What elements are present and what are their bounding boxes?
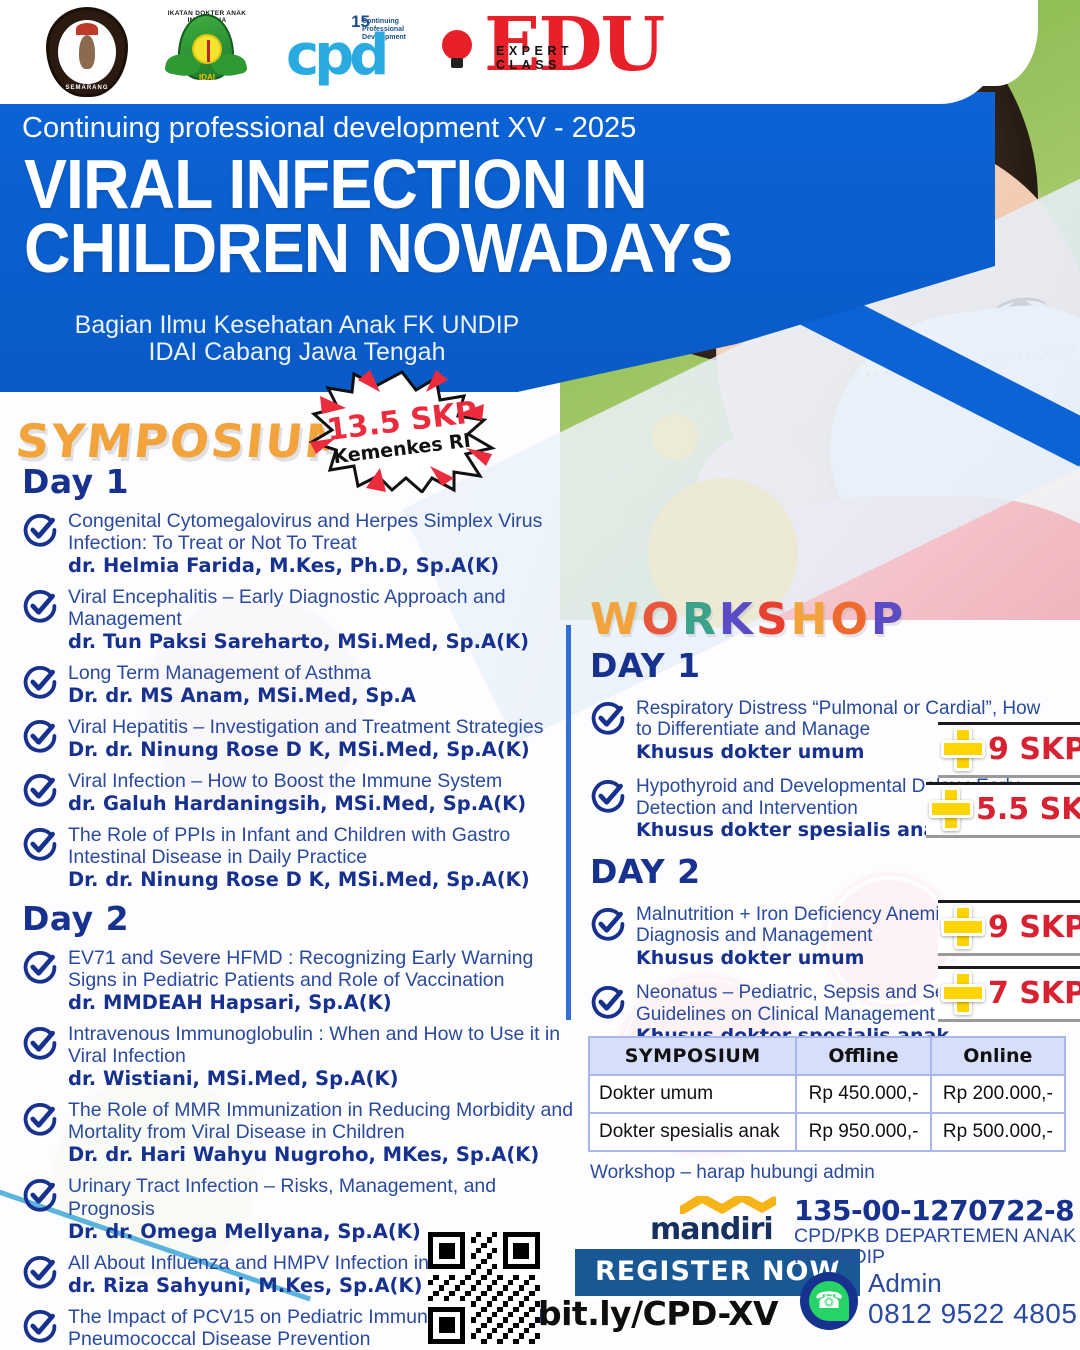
session-speaker: dr. Wistiani, MSi.Med, Sp.A(K) bbox=[68, 1067, 578, 1090]
workshop-skp-badge: 5.5 SKP bbox=[926, 782, 1080, 838]
qr-code[interactable] bbox=[428, 1232, 540, 1344]
session-title: Congenital Cytomegalovirus and Herpes Si… bbox=[68, 510, 578, 554]
edu-logo-subtext: EXPERT CLASS bbox=[496, 44, 640, 72]
table-header-row: SYMPOSIUM Offline Online bbox=[589, 1037, 1065, 1075]
workshop-day1-label: DAY 1 bbox=[590, 646, 1060, 685]
list-item: Long Term Management of AsthmaDr. dr. MS… bbox=[22, 662, 578, 707]
list-item: Congenital Cytomegalovirus and Herpes Si… bbox=[22, 510, 578, 577]
session-speaker: Dr. dr. Ninung Rose D K, MSi.Med, Sp.A(K… bbox=[68, 738, 578, 761]
check-circle-icon bbox=[22, 826, 58, 862]
check-circle-icon bbox=[22, 718, 58, 754]
check-circle-icon bbox=[22, 1308, 58, 1344]
price-offline: Rp 950.000,- bbox=[796, 1113, 930, 1151]
starburst-rays-icon bbox=[306, 368, 498, 493]
check-circle-icon bbox=[590, 906, 626, 942]
session-title: Urinary Tract Infection – Risks, Managem… bbox=[68, 1175, 578, 1219]
check-circle-icon bbox=[22, 588, 58, 624]
page-title-line2: CHILDREN NOWADAYS bbox=[24, 216, 732, 280]
session-speaker: dr. MMDEAH Hapsari, Sp.A(K) bbox=[68, 991, 578, 1014]
workshop-skp-badge: 7 SKP bbox=[938, 966, 1080, 1022]
session-title: Viral Infection – How to Boost the Immun… bbox=[68, 770, 578, 792]
pricing-table: SYMPOSIUM Offline Online Dokter umum Rp … bbox=[588, 1036, 1066, 1152]
session-title: The Role of PPIs in Infant and Children … bbox=[68, 824, 578, 868]
table-col-online: Online bbox=[931, 1037, 1065, 1075]
plus-icon bbox=[928, 786, 974, 832]
header-kicker: Continuing professional development XV -… bbox=[22, 112, 636, 145]
symposium-heading: SYMPOSIUM bbox=[13, 414, 355, 468]
edu-logo-icon: EDU EXPERT CLASS bbox=[440, 8, 640, 96]
bank-account-number: 135-00-1270722-8 bbox=[794, 1194, 1074, 1227]
header-subtitle-line2: IDAI Cabang Jawa Tengah bbox=[62, 339, 532, 366]
bank-account-name: CPD/PKB DEPARTEMEN ANAK FK UNDIP bbox=[794, 1226, 1080, 1268]
table-col-offline: Offline bbox=[796, 1037, 930, 1075]
check-circle-icon bbox=[22, 1254, 58, 1290]
workshop-heading: WORKSHOP bbox=[590, 594, 906, 645]
symposium-column: Day 1 Congenital Cytomegalovirus and Her… bbox=[22, 462, 578, 1350]
list-item: Viral Infection – How to Boost the Immun… bbox=[22, 770, 578, 815]
check-circle-icon bbox=[22, 1177, 58, 1213]
check-circle-icon bbox=[22, 772, 58, 808]
plus-icon bbox=[940, 904, 986, 950]
list-item: The Role of PPIs in Infant and Children … bbox=[22, 824, 578, 891]
skp-starburst-badge: 13.5 SKP Kemenkes RI bbox=[306, 368, 498, 493]
session-speaker: dr. Galuh Hardaningsih, MSi.Med, Sp.A(K) bbox=[68, 792, 578, 815]
admin-phone[interactable]: 0812 9522 4805 bbox=[868, 1298, 1077, 1330]
list-item: Intravenous Immunoglobulin : When and Ho… bbox=[22, 1023, 578, 1090]
check-circle-icon bbox=[22, 1025, 58, 1061]
list-item-text: Viral Encephalitis – Early Diagnostic Ap… bbox=[68, 586, 578, 653]
plus-icon bbox=[940, 970, 986, 1016]
idai-logo-text: IDAI bbox=[162, 73, 252, 82]
price-online: Rp 500.000,- bbox=[931, 1113, 1065, 1151]
list-item-text: The Role of MMR Immunization in Reducing… bbox=[68, 1099, 578, 1166]
workshop-skp-badge: 9 SKP bbox=[938, 722, 1080, 778]
price-row-label: Dokter umum bbox=[589, 1075, 796, 1113]
registration-link[interactable]: bit.ly/CPD-XV bbox=[538, 1294, 778, 1333]
list-item: The Role of MMR Immunization in Reducing… bbox=[22, 1099, 578, 1166]
page-title-line1: VIRAL INFECTION IN bbox=[24, 152, 732, 216]
list-item-text: Viral Hepatitis – Investigation and Trea… bbox=[68, 716, 578, 761]
mandiri-logo-icon: mandiri bbox=[650, 1196, 785, 1244]
session-speaker: Dr. dr. MS Anam, MSi.Med, Sp.A bbox=[68, 684, 578, 707]
workshop-skp-badge: 9 SKP bbox=[938, 900, 1080, 956]
list-item-text: Congenital Cytomegalovirus and Herpes Si… bbox=[68, 510, 578, 577]
bank-account-name-line1: CPD/PKB DEPARTEMEN ANAK bbox=[794, 1226, 1080, 1247]
check-circle-icon bbox=[22, 1101, 58, 1137]
list-item: Viral Encephalitis – Early Diagnostic Ap… bbox=[22, 586, 578, 653]
workshop-skp-value: 7 SKP bbox=[988, 976, 1080, 1011]
table-row: Dokter umum Rp 450.000,- Rp 200.000,- bbox=[589, 1075, 1065, 1113]
header-subtitle-line1: Bagian Ilmu Kesehatan Anak FK UNDIP bbox=[62, 312, 532, 339]
session-speaker: Dr. dr. Hari Wahyu Nugroho, MKes, Sp.A(K… bbox=[68, 1143, 578, 1166]
session-speaker: Dr. dr. Ninung Rose D K, MSi.Med, Sp.A(K… bbox=[68, 868, 578, 891]
logo-strip: SEMARANG IKATAN DOKTER ANAK INDONESIA ID… bbox=[46, 6, 640, 98]
list-item-text: Viral Infection – How to Boost the Immun… bbox=[68, 770, 578, 815]
cpd-logo-icon: 15 ContinuingProfessionalDevelopment cpd bbox=[286, 6, 406, 98]
mandiri-logo-text: mandiri bbox=[650, 1212, 773, 1247]
list-item-text: Long Term Management of AsthmaDr. dr. MS… bbox=[68, 662, 578, 707]
session-speaker: dr. Helmia Farida, M.Kes, Ph.D, Sp.A(K) bbox=[68, 554, 578, 577]
price-online: Rp 200.000,- bbox=[931, 1075, 1065, 1113]
table-row: Dokter spesialis anak Rp 950.000,- Rp 50… bbox=[589, 1113, 1065, 1151]
table-col-category: SYMPOSIUM bbox=[589, 1037, 796, 1075]
header-subtitle: Bagian Ilmu Kesehatan Anak FK UNDIP IDAI… bbox=[62, 312, 532, 365]
session-title: Viral Encephalitis – Early Diagnostic Ap… bbox=[68, 586, 578, 630]
bank-account-name-line2: FK UNDIP bbox=[794, 1247, 1080, 1268]
price-offline: Rp 450.000,- bbox=[796, 1075, 930, 1113]
admin-label: Admin bbox=[868, 1268, 942, 1299]
plus-icon bbox=[940, 726, 986, 772]
check-circle-icon bbox=[590, 984, 626, 1020]
cpd-logo-text: cpd bbox=[286, 28, 384, 84]
symposium-day2-label: Day 2 bbox=[22, 899, 578, 938]
workshop-skp-value: 9 SKP bbox=[988, 732, 1080, 767]
list-item-text: Intravenous Immunoglobulin : When and Ho… bbox=[68, 1023, 578, 1090]
pricing-note: Workshop – harap hubungi admin bbox=[590, 1162, 875, 1184]
symposium-day1-list: Congenital Cytomegalovirus and Herpes Si… bbox=[22, 510, 578, 891]
poster-root: Continuing professional development XV -… bbox=[0, 0, 1080, 1350]
session-title: Long Term Management of Asthma bbox=[68, 662, 578, 684]
session-speaker: dr. Tun Paksi Sareharto, MSi.Med, Sp.A(K… bbox=[68, 630, 578, 653]
lightbulb-icon bbox=[442, 30, 472, 60]
workshop-day2-label: DAY 2 bbox=[590, 852, 1060, 891]
list-item: Viral Hepatitis – Investigation and Trea… bbox=[22, 716, 578, 761]
idai-logo-icon: IKATAN DOKTER ANAK INDONESIA IDAI bbox=[162, 8, 252, 96]
undip-logo-text: SEMARANG bbox=[46, 85, 128, 91]
list-item: EV71 and Severe HFMD : Recognizing Early… bbox=[22, 947, 578, 1014]
workshop-skp-value: 5.5 SKP bbox=[976, 792, 1080, 827]
session-title: Intravenous Immunoglobulin : When and Ho… bbox=[68, 1023, 578, 1067]
check-circle-icon bbox=[590, 778, 626, 814]
workshop-skp-value: 9 SKP bbox=[988, 910, 1080, 945]
list-item-text: The Role of PPIs in Infant and Children … bbox=[68, 824, 578, 891]
whatsapp-icon[interactable]: ☎ bbox=[800, 1272, 858, 1330]
check-circle-icon bbox=[22, 949, 58, 985]
check-circle-icon bbox=[22, 512, 58, 548]
session-title: EV71 and Severe HFMD : Recognizing Early… bbox=[68, 947, 578, 991]
page-title: VIRAL INFECTION IN CHILDREN NOWADAYS bbox=[24, 152, 732, 281]
session-title: Viral Hepatitis – Investigation and Trea… bbox=[68, 716, 578, 738]
session-title: The Role of MMR Immunization in Reducing… bbox=[68, 1099, 578, 1143]
price-row-label: Dokter spesialis anak bbox=[589, 1113, 796, 1151]
list-item-text: EV71 and Severe HFMD : Recognizing Early… bbox=[68, 947, 578, 1014]
undip-logo-icon: SEMARANG bbox=[46, 7, 128, 97]
check-circle-icon bbox=[22, 664, 58, 700]
check-circle-icon bbox=[590, 700, 626, 736]
